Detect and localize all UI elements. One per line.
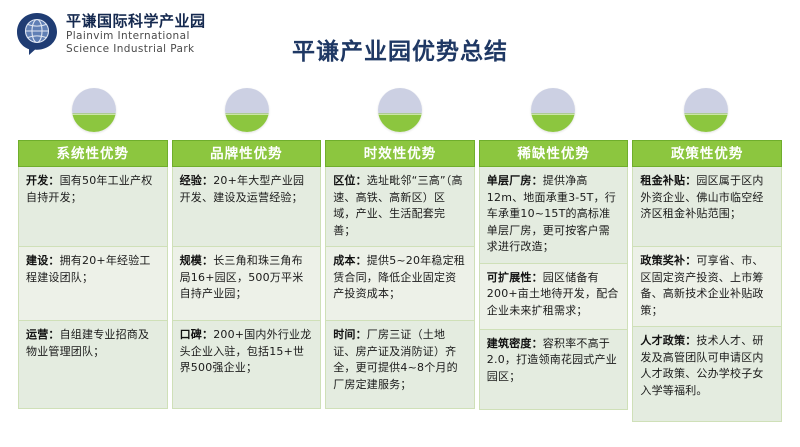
cell-lead: 经验： [180,174,214,187]
circle-marker-2 [225,88,269,132]
advantage-column: 稀缺性优势 单层厂房：提供净高12m、地面承重3-5T，行车承重10~15T的高… [479,140,629,422]
logo-cn-name: 平谦国际科学产业园 [66,13,206,30]
cell-lead: 政策奖补： [640,254,696,267]
circle-marker-row [18,88,782,140]
circle-cell [18,88,171,140]
table-cell: 开发：国有50年工业产权自持开发； [18,167,168,247]
cell-lead: 单层厂房： [487,174,543,187]
column-header-4: 政策性优势 [632,140,782,167]
table-cell: 区位：选址毗邻“三高”（高速、高铁、高新区）区域，产业、生活配套完善； [325,167,475,247]
cell-lead: 口碑： [180,328,214,341]
circle-marker-4 [531,88,575,132]
circle-marker-3 [378,88,422,132]
table-cell: 规模：长三角和珠三角布局16+园区，500万平米自持产业园； [172,247,322,321]
cell-lead: 建设： [26,254,60,267]
advantage-column: 系统性优势 开发：国有50年工业产权自持开发； 建设：拥有20+年经验工程建设团… [18,140,168,422]
advantage-column: 时效性优势 区位：选址毗邻“三高”（高速、高铁、高新区）区域，产业、生活配套完善… [325,140,475,422]
cell-lead: 运营： [26,328,60,341]
page-header: 平谦国际科学产业园 Plainvim International Science… [0,0,800,82]
advantage-column: 政策性优势 租金补贴：园区属于区内外资企业、佛山市临空经济区租金补贴范围； 政策… [632,140,782,422]
table-cell: 经验：20+年大型产业园开发、建设及运营经验； [172,167,322,247]
cell-lead: 建筑密度： [487,337,543,350]
table-cell: 运营：自组建专业招商及物业管理团队； [18,321,168,409]
circle-cell [629,88,782,140]
table-cell: 时间：厂房三证（土地证、房产证及消防证）齐全，更可提供4~8个月的厂房定建服务； [325,321,475,409]
table-cell: 政策奖补：可享省、市、区固定资产投资、上市筹备、高新技术企业补贴政策； [632,247,782,327]
table-cell: 人才政策：技术人才、研发及高管团队可申请区内人才政策、公办学校子女入学等福利。 [632,327,782,422]
circle-marker-5 [684,88,728,132]
cell-lead: 可扩展性： [487,271,543,284]
cell-lead: 时间： [333,328,367,341]
advantage-column: 品牌性优势 经验：20+年大型产业园开发、建设及运营经验； 规模：长三角和珠三角… [172,140,322,422]
column-header-3: 稀缺性优势 [479,140,629,167]
circle-marker-1 [72,88,116,132]
table-cell: 单层厂房：提供净高12m、地面承重3-5T，行车承重10~15T的高标准单层厂房… [479,167,629,264]
table-cell: 租金补贴：园区属于区内外资企业、佛山市临空经济区租金补贴范围； [632,167,782,247]
advantages-table: 系统性优势 开发：国有50年工业产权自持开发； 建设：拥有20+年经验工程建设团… [18,140,782,422]
circle-cell [476,88,629,140]
table-cell: 可扩展性：园区储备有200+亩土地待开发，配合企业未来扩租需求； [479,264,629,330]
table-cell: 口碑：200+国内外行业龙头企业入驻，包括15+世界500强企业； [172,321,322,409]
circle-cell [324,88,477,140]
table-cell: 成本：提供5~20年稳定租赁合同，降低企业固定资产投资成本； [325,247,475,321]
page-title: 平谦产业园优势总结 [0,32,800,66]
table-cell: 建筑密度：容积率不高于2.0，打造领南花园式产业园区； [479,330,629,410]
cell-lead: 开发： [26,174,60,187]
cell-lead: 人才政策： [640,334,696,347]
circle-cell [171,88,324,140]
column-header-1: 品牌性优势 [172,140,322,167]
cell-lead: 规模： [180,254,214,267]
column-header-2: 时效性优势 [325,140,475,167]
column-header-0: 系统性优势 [18,140,168,167]
table-cell: 建设：拥有20+年经验工程建设团队； [18,247,168,321]
cell-lead: 区位： [333,174,367,187]
cell-lead: 成本： [333,254,367,267]
cell-lead: 租金补贴： [640,174,696,187]
